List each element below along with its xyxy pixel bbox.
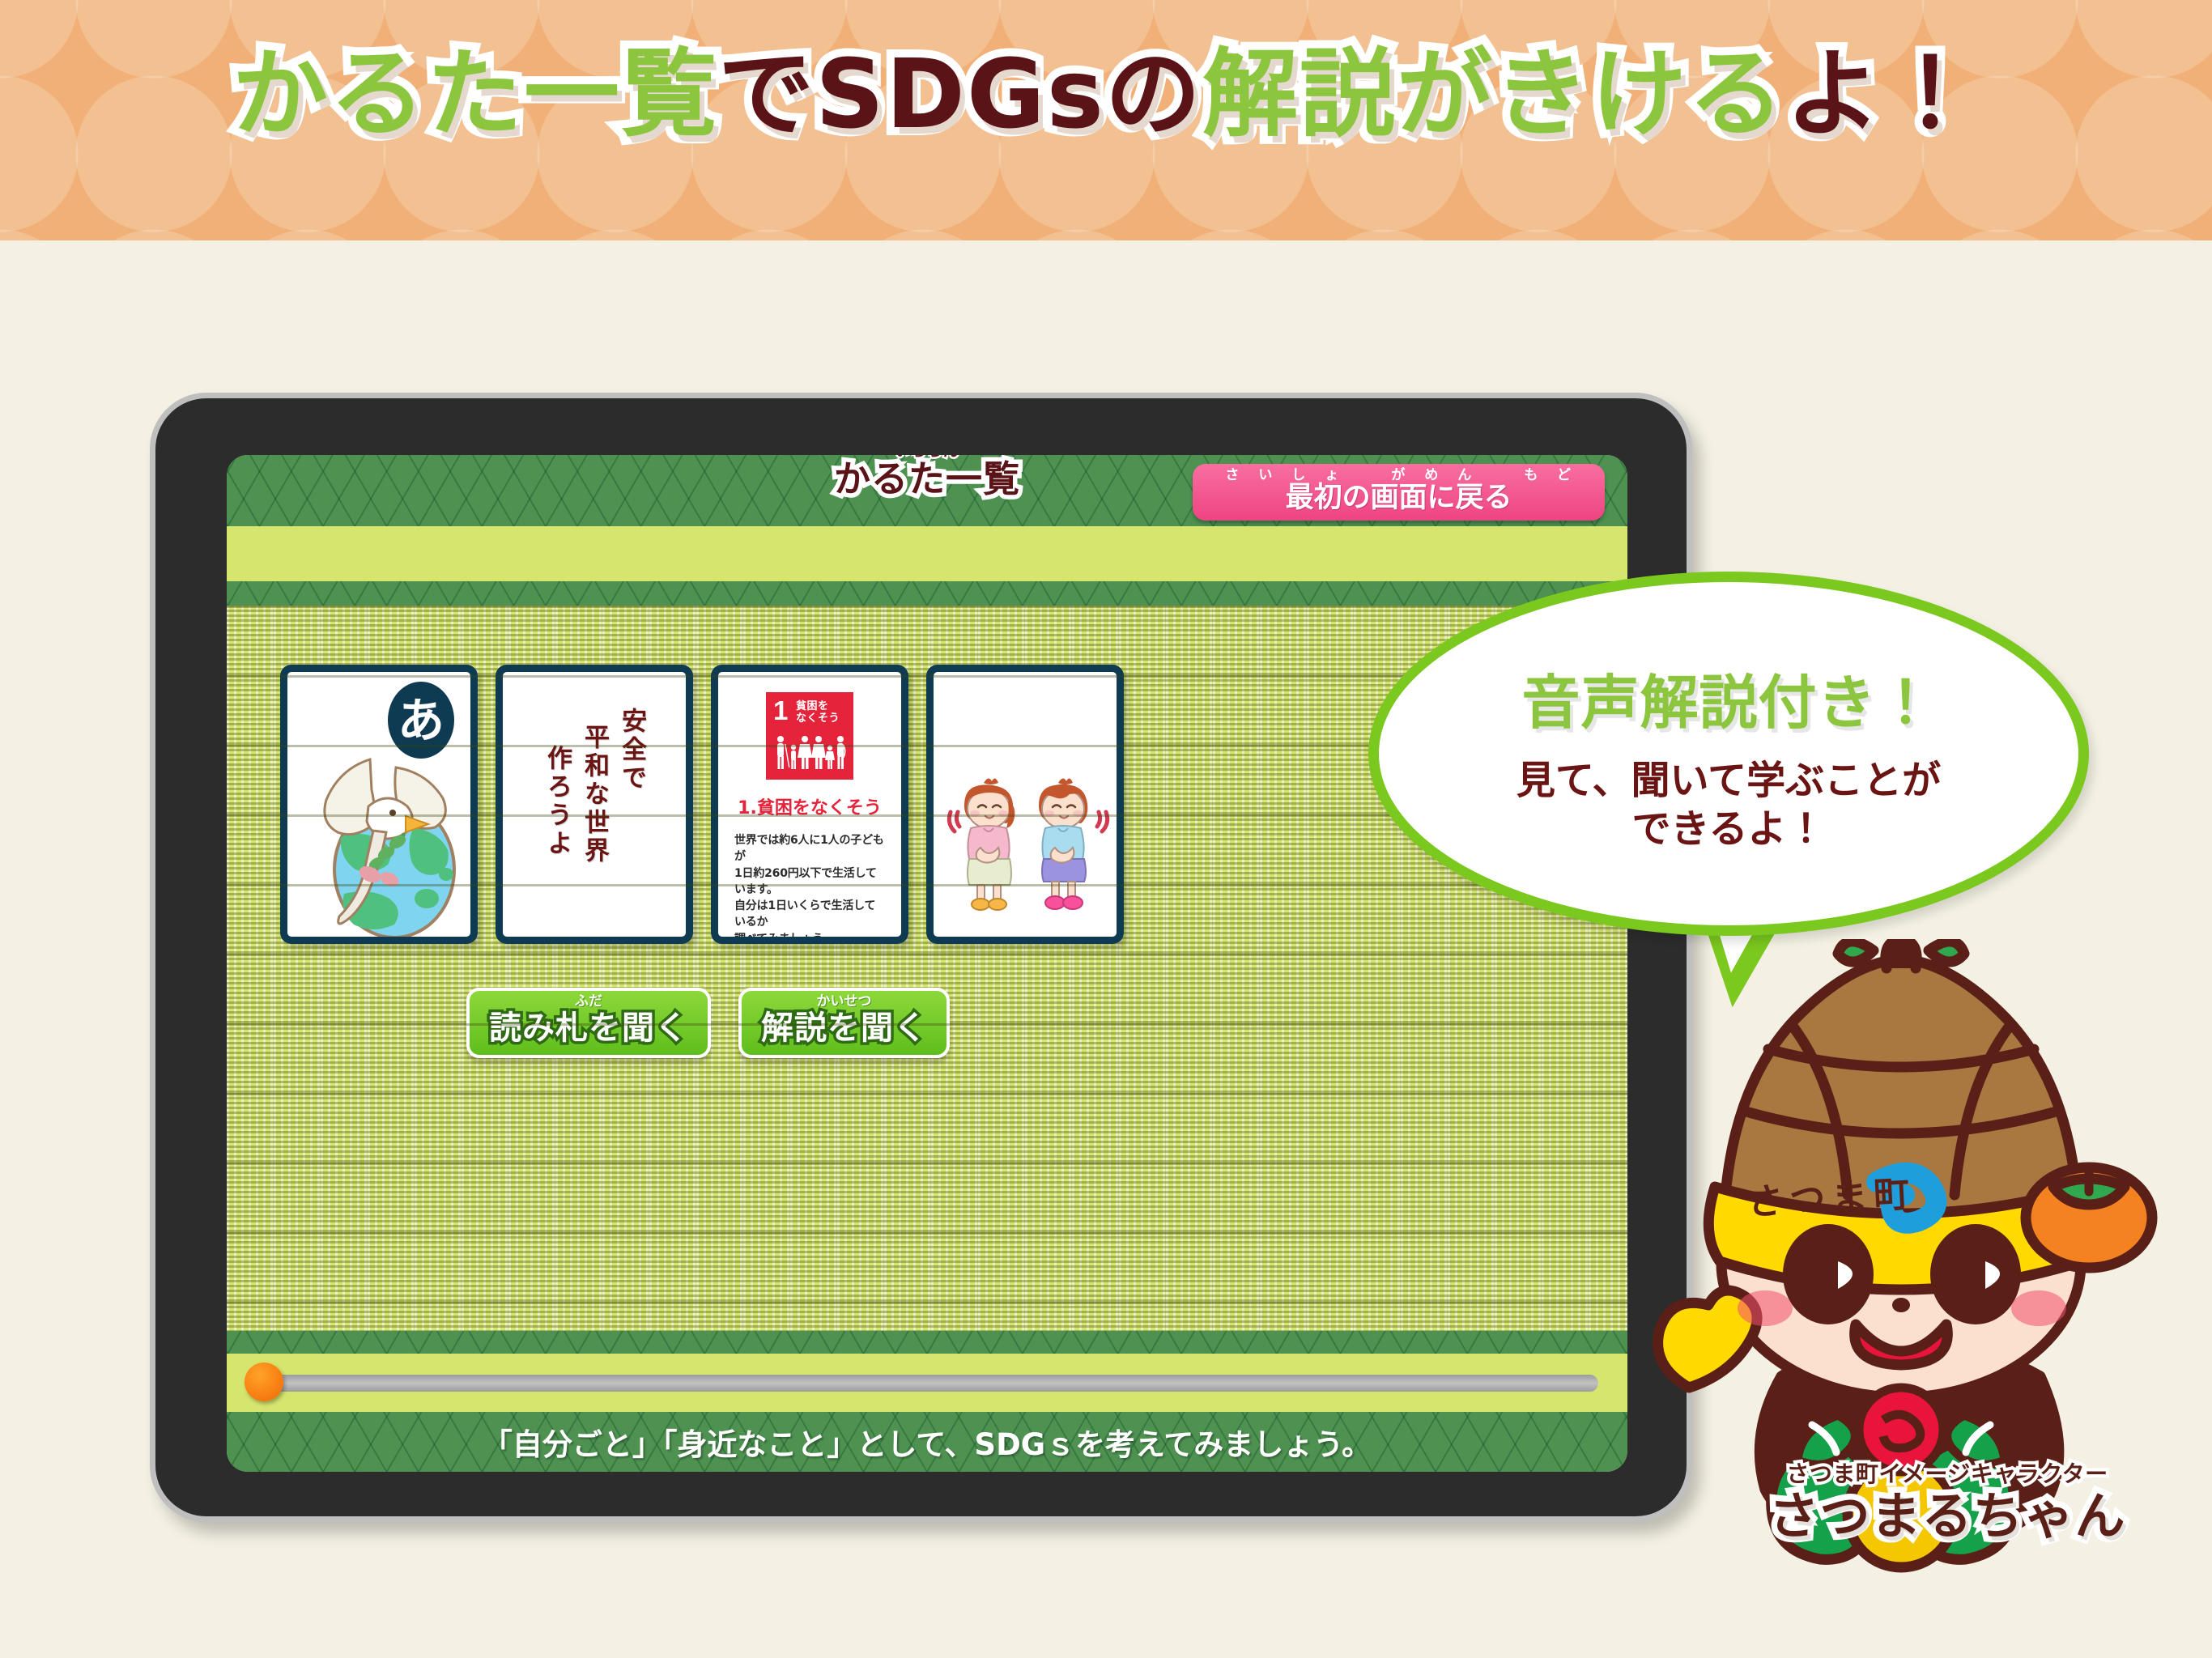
kana-card-inner: あ bbox=[287, 672, 470, 937]
play-explanation-label: 解説を聞く bbox=[761, 1010, 927, 1047]
back-button-label: 最初の画面に戻る bbox=[1207, 483, 1590, 513]
sdg-body-line-2: 1日約260円以下で生活しています。 bbox=[734, 865, 885, 899]
header-pale-band bbox=[227, 526, 1627, 581]
caption-text: 「自分ごと」「身近なこと」として、SDGｓを考えてみましょう。 bbox=[483, 1420, 1372, 1464]
scrollbar-thumb[interactable] bbox=[245, 1363, 283, 1401]
two-children-bowing-icon bbox=[945, 757, 1117, 919]
speech-bubble-body-line-2: できるよ！ bbox=[1516, 805, 1941, 853]
caption-bar: 「自分ごと」「身近なこと」として、SDGｓを考えてみましょう。 bbox=[227, 1412, 1627, 1472]
banner-segment-1: かるた一覧 bbox=[232, 23, 718, 166]
sdg-icon-label: 貧困をなくそう bbox=[796, 701, 840, 725]
sdg-goal-number: 1 bbox=[773, 698, 788, 723]
play-reading-card-label: 読み札を聞く bbox=[489, 1010, 688, 1047]
slogan-line-1: 安全で bbox=[618, 708, 645, 793]
sdg-goal-card[interactable]: 1 貧困をなくそう bbox=[711, 665, 908, 944]
speech-bubble-body: 見て、聞いて学ぶことが できるよ！ bbox=[1516, 756, 1941, 853]
sdg-body-line-3: 自分は1日いくらで生活しているか bbox=[734, 898, 885, 931]
play-reading-card-ruby: ふだ bbox=[489, 994, 688, 1010]
app-header: いちらん かるた一覧 さいしょ がめん もど 最初の画面に戻る bbox=[227, 455, 1627, 526]
kids-card[interactable] bbox=[926, 665, 1124, 944]
audio-button-row: ふだ 読み札を聞く かいせつ 解説を聞く bbox=[466, 988, 950, 1058]
header-divider-stripe bbox=[227, 581, 1627, 606]
sdg-body-line-4: 調べてみましょう。 bbox=[734, 931, 885, 937]
sdg-body-line-1: 世界では約6人に1人の子どもが bbox=[734, 832, 885, 865]
kana-card[interactable]: あ bbox=[280, 665, 478, 944]
slogan-vertical-text: 安全で 平和な世界 作ろうよ bbox=[503, 672, 686, 937]
bottom-divider-stripe bbox=[227, 1331, 1627, 1354]
tablet-screen: いちらん かるた一覧 さいしょ がめん もど 最初の画面に戻る あ bbox=[227, 455, 1627, 1472]
dove-and-globe-icon bbox=[292, 732, 470, 937]
mascot-satsumaru-chan bbox=[1595, 939, 2210, 1579]
slogan-card-inner: 安全で 平和な世界 作ろうよ bbox=[503, 672, 686, 937]
page-title-ruby: いちらん bbox=[895, 455, 959, 459]
kids-card-inner bbox=[934, 672, 1117, 937]
sdg-card-inner: 1 貧困をなくそう bbox=[718, 672, 901, 937]
slogan-card[interactable]: 安全で 平和な世界 作ろうよ bbox=[496, 665, 693, 944]
speech-bubble: 音声解説付き！ 見て、聞いて学ぶことが できるよ！ bbox=[1368, 572, 2089, 936]
sdg-goal-body: 世界では約6人に1人の子どもが 1日約260円以下で生活しています。 自分は1日… bbox=[728, 832, 891, 937]
play-explanation-ruby: かいせつ bbox=[761, 994, 927, 1010]
card-row: あ bbox=[280, 665, 1124, 944]
back-to-start-button[interactable]: さいしょ がめん もど 最初の画面に戻る bbox=[1193, 464, 1605, 521]
banner-title: かるた一覧でSDGsの解説がきけるよ！ bbox=[0, 23, 2212, 166]
page-title-text: かるた一覧 bbox=[834, 457, 1020, 500]
scrollbar-track[interactable] bbox=[270, 1375, 1598, 1392]
sdg-card-body: 1 貧困をなくそう bbox=[718, 672, 901, 937]
banner-segment-3: 解説がきける bbox=[1202, 23, 1785, 166]
banner-segment-2: でSDGsの bbox=[718, 23, 1202, 166]
slogan-line-2: 平和な世界 bbox=[581, 724, 608, 865]
play-explanation-button[interactable]: かいせつ 解説を聞く bbox=[738, 988, 950, 1058]
horizontal-scrollbar[interactable] bbox=[227, 1354, 1627, 1412]
sdg-goal-title: 1.貧困をなくそう bbox=[728, 793, 891, 819]
slogan-line-3: 作ろうよ bbox=[543, 745, 571, 858]
play-reading-card-button[interactable]: ふだ 読み札を聞く bbox=[466, 988, 711, 1058]
family-pictogram-icon bbox=[773, 735, 846, 770]
banner-segment-4: よ！ bbox=[1785, 23, 1980, 166]
speech-bubble-body-line-1: 見て、聞いて学ぶことが bbox=[1516, 756, 1941, 805]
speech-bubble-title: 音声解説付き！ bbox=[1521, 655, 1935, 740]
top-banner: かるた一覧でSDGsの解説がきけるよ！ bbox=[0, 0, 2212, 240]
tablet-device: いちらん かるた一覧 さいしょ がめん もど 最初の画面に戻る あ bbox=[150, 393, 1692, 1522]
sdg-goal-1-icon: 1 貧困をなくそう bbox=[766, 692, 853, 780]
